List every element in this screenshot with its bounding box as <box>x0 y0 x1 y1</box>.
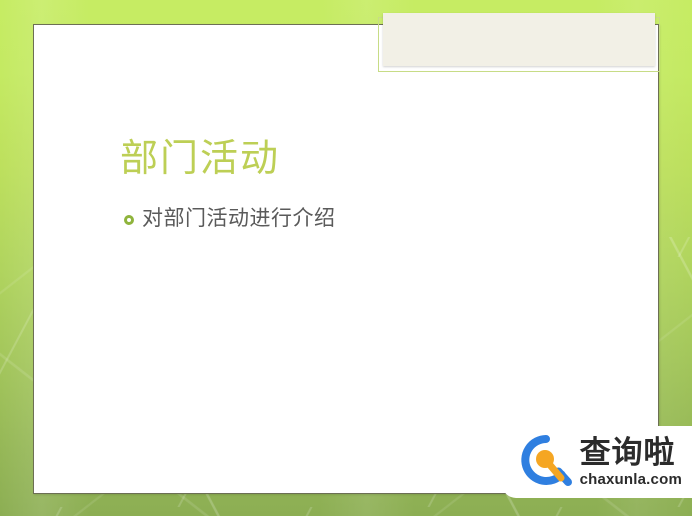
magnifier-q-logo-icon <box>518 434 574 490</box>
slide-title: 部门活动 <box>120 138 280 182</box>
list-item: 对部门活动进行介绍 <box>124 205 604 232</box>
watermark: 查询啦 chaxunla.com <box>502 426 692 498</box>
picture-placeholder-frame[interactable] <box>383 13 655 66</box>
presentation-slide: 部门活动 对部门活动进行介绍 查询啦 chaxunla.com <box>0 0 692 516</box>
watermark-text: 查询啦 chaxunla.com <box>580 437 682 487</box>
watermark-brand: 查询啦 <box>580 437 682 468</box>
watermark-domain: chaxunla.com <box>580 472 682 487</box>
slide-bullet-list: 对部门活动进行介绍 <box>124 205 604 232</box>
ring-bullet-icon <box>124 215 134 225</box>
slide-content-panel: 部门活动 对部门活动进行介绍 <box>33 24 659 494</box>
bullet-item-label: 对部门活动进行介绍 <box>142 205 336 232</box>
